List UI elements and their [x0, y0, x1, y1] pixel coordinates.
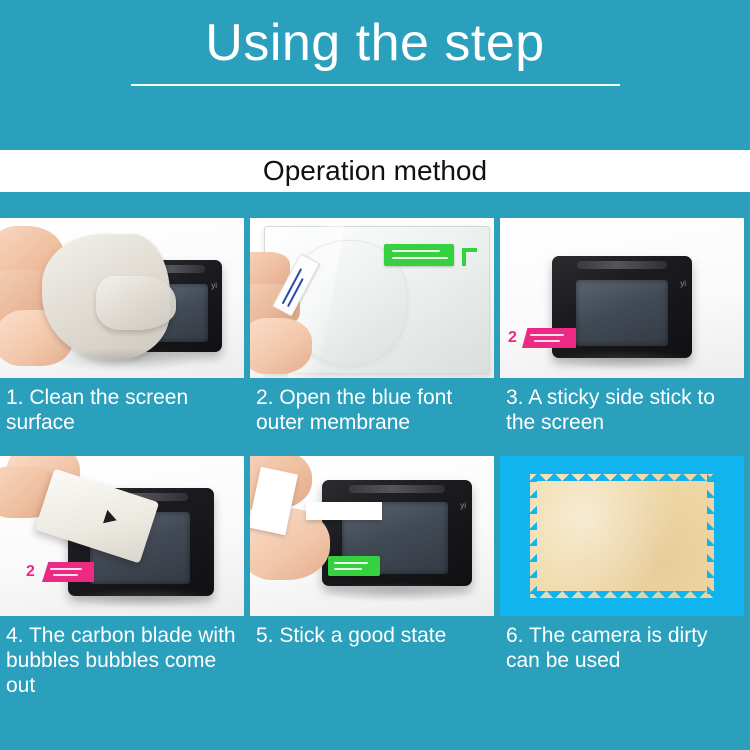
pink-step-number: 2	[26, 564, 35, 580]
step-text-1: Clean the screen surface	[6, 386, 188, 434]
step-number-1: 1.	[6, 386, 24, 409]
subtitle-text: Operation method	[263, 155, 487, 187]
page-title: Using the step	[0, 8, 750, 78]
pink-step-label	[42, 562, 94, 582]
step-text-2: Open the blue font outer membrane	[256, 386, 452, 434]
step-number-5: 5.	[256, 624, 274, 647]
step-image-2	[250, 218, 494, 378]
title-underline	[131, 84, 620, 86]
step-image-6	[500, 456, 744, 616]
camera-brand-mark: yi	[680, 280, 686, 288]
step-image-1: yi	[0, 218, 244, 378]
camera-top-button	[577, 261, 667, 269]
green-corner-arrow	[462, 248, 477, 266]
steps-row-top: yi 1. Cle	[0, 218, 750, 456]
step-text-5: Stick a good state	[279, 624, 446, 647]
pink-step-label	[522, 328, 576, 348]
green-label	[384, 244, 454, 266]
steps-row-bottom: 2 4. The carbon blade with bubbles bubbl…	[0, 456, 750, 708]
camera-brand-mark: yi	[460, 502, 466, 510]
triangle-icon	[103, 510, 119, 527]
cleaning-cloth-fold	[96, 276, 176, 330]
step-text-6: The camera is dirty can be used	[506, 624, 708, 672]
cloth-edge-top	[530, 473, 714, 481]
subtitle-band: Operation method	[0, 150, 750, 192]
step-caption-5: 5. Stick a good state	[250, 616, 494, 708]
microfiber-cloth	[530, 474, 714, 598]
step-card-5: yi	[244, 456, 500, 708]
step-card-3: yi 2 3. A sticky side stick to the scree…	[500, 218, 744, 456]
step-card-1: yi 1. Cle	[0, 218, 244, 456]
drop-shadow	[50, 348, 200, 372]
step-text-4: The carbon blade with bubbles bubbles co…	[6, 624, 236, 697]
steps-grid: yi 1. Cle	[0, 192, 750, 708]
step-card-2: 2. Open the blue font outer membrane	[244, 218, 500, 456]
camera-brand-mark: yi	[211, 282, 217, 290]
step-image-3: yi 2	[500, 218, 744, 378]
camera-screen	[576, 280, 668, 346]
green-label	[328, 556, 380, 576]
step-image-5: yi	[250, 456, 494, 616]
step-caption-1: 1. Clean the screen surface	[0, 378, 244, 456]
step-number-6: 6.	[506, 624, 524, 647]
step-caption-3: 3. A sticky side stick to the screen	[500, 378, 744, 456]
cloth-edge-right	[707, 474, 715, 598]
camera-top-button	[349, 485, 445, 493]
infographic-page: Using the step Operation method yi	[0, 0, 750, 750]
step-text-3: A sticky side stick to the screen	[506, 386, 715, 434]
white-pull-strip-flat	[306, 502, 382, 520]
cloth-edge-left	[529, 474, 537, 598]
cloth-edge-bottom	[530, 591, 714, 599]
step-card-6: 6. The camera is dirty can be used	[500, 456, 744, 708]
header: Using the step	[0, 0, 750, 150]
step-number-4: 4.	[6, 624, 24, 647]
drop-shadow	[552, 350, 698, 370]
step-caption-2: 2. Open the blue font outer membrane	[250, 378, 494, 456]
step-card-4: 2 4. The carbon blade with bubbles bubbl…	[0, 456, 244, 708]
step-caption-6: 6. The camera is dirty can be used	[500, 616, 744, 708]
step-number-3: 3.	[506, 386, 524, 409]
cloth-texture	[530, 474, 714, 598]
drop-shadow	[70, 588, 220, 608]
step-image-4: 2	[0, 456, 244, 616]
drop-shadow	[320, 582, 476, 602]
pink-step-number: 2	[508, 330, 517, 346]
step-number-2: 2.	[256, 386, 274, 409]
step-caption-4: 4. The carbon blade with bubbles bubbles…	[0, 616, 244, 708]
